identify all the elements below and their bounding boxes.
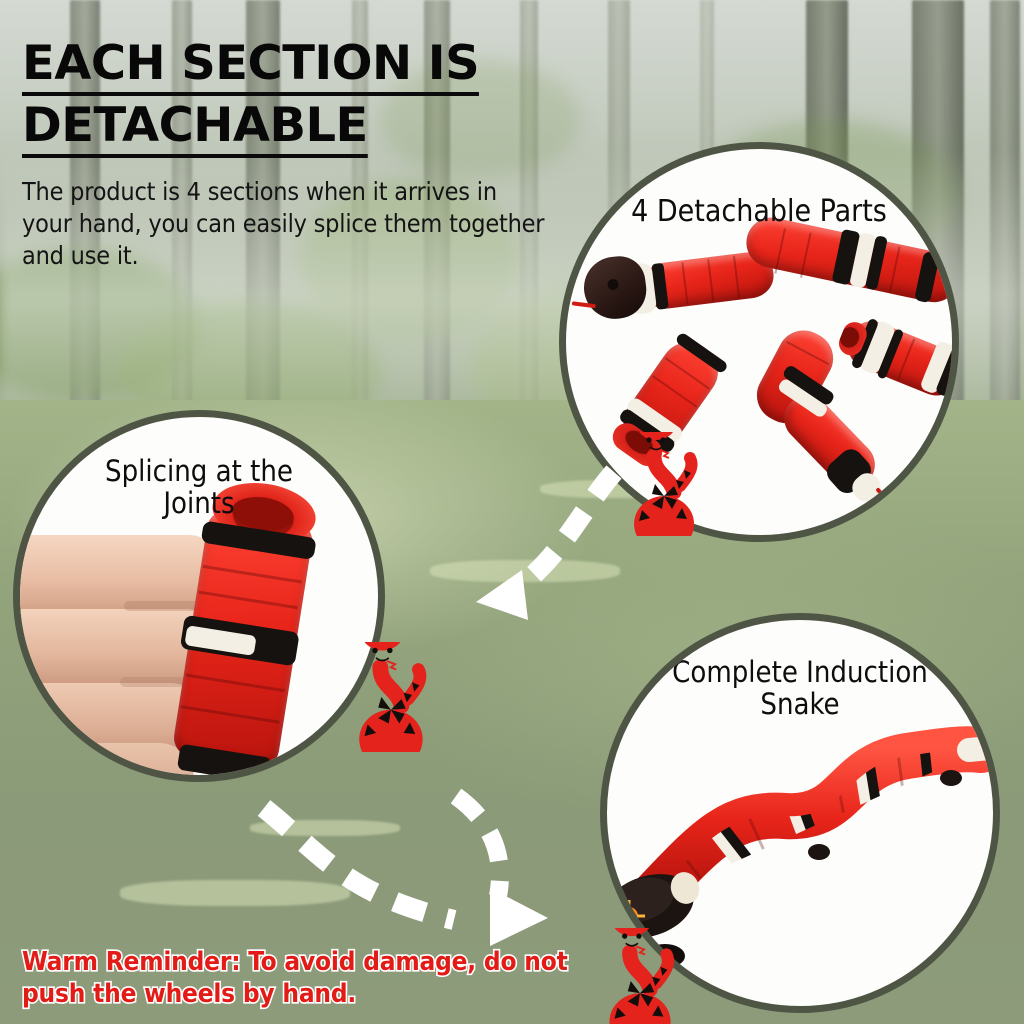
- infographic-canvas: EACH SECTION IS DETACHABLE The product i…: [0, 0, 1024, 1024]
- page-title-line-2: DETACHABLE: [22, 100, 368, 158]
- description-text: The product is 4 sections when it arrive…: [22, 176, 552, 272]
- page-title-line-1: EACH SECTION IS: [22, 38, 479, 96]
- warm-reminder-text: Warm Reminder: To avoid damage, do not p…: [22, 946, 602, 1010]
- circle-label-complete-snake: Complete Induction Snake: [607, 656, 993, 721]
- circle-label-complete-line-1: Complete Induction: [672, 655, 928, 689]
- photo-circle-splicing-joints[interactable]: Splicing at the Joints: [13, 410, 385, 782]
- snake-mascot-icon: [598, 928, 686, 1024]
- snake-mascot-icon: [624, 432, 708, 536]
- page-title: EACH SECTION IS DETACHABLE: [22, 38, 642, 162]
- snake-mascot-icon: [348, 642, 438, 752]
- dashed-curved-arrow-icon: [248, 768, 578, 958]
- circle-label-complete-line-2: Snake: [760, 687, 839, 721]
- dashed-curved-arrow-icon: [418, 452, 638, 652]
